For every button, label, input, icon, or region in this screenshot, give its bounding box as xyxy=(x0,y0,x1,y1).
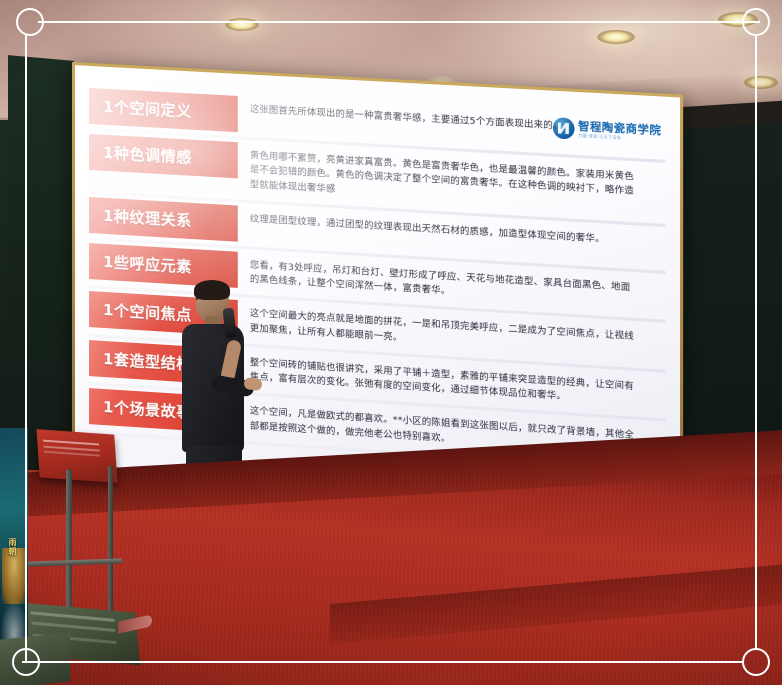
ceiling-downlight-icon xyxy=(225,18,259,31)
side-poster: 雨朝 xyxy=(0,428,28,658)
side-board xyxy=(8,55,74,361)
lectern-post xyxy=(108,466,113,616)
slide-row-tag: 1种色调情感 xyxy=(89,134,238,178)
poster-figure xyxy=(2,548,26,604)
foreground-object xyxy=(0,632,70,685)
slide-row-tag: 1个空间定义 xyxy=(89,88,238,132)
presenter-hair xyxy=(194,280,230,300)
poster-text: 雨朝 xyxy=(3,538,16,556)
lectern-post xyxy=(66,470,72,620)
slide-row-body: 这张图首先所体现出的是一种富贵奢华感，主要通过5个方面表现出来的。 xyxy=(238,96,666,144)
slide-row-tag: 1种纹理关系 xyxy=(89,197,238,242)
lectern-top xyxy=(36,429,117,483)
microphone-icon xyxy=(222,308,236,339)
ceiling-downlight-icon xyxy=(597,30,635,44)
presentation-photo: 智程陶瓷商学院 力量·改变·让天下没有 1个空间定义这张图首先所体现出的是一种富… xyxy=(0,0,782,685)
slide-row-line: 纹理是团型纹理，通过团型的纹理表现出天然石材的质感，加造型体现空间的奢华。 xyxy=(250,212,657,250)
ceiling-downlight-icon xyxy=(718,12,758,27)
slide-row-line: 这张图首先所体现出的是一种富贵奢华感，主要通过5个方面表现出来的。 xyxy=(250,103,657,140)
